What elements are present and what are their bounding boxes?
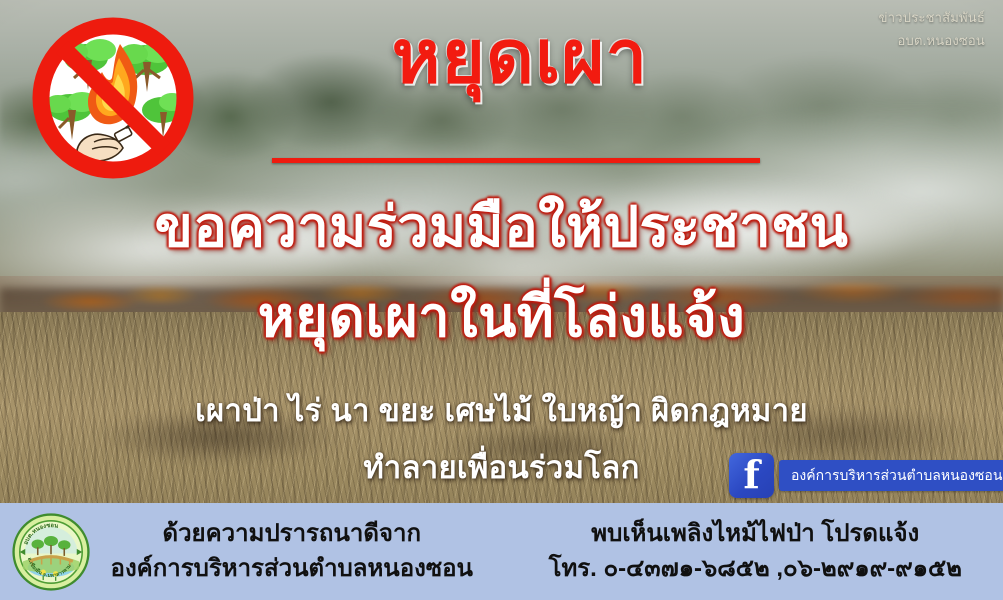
footer-right-phone: โทร. ๐-๔๓๗๑-๖๘๕๒ ,๐๖-๒๙๑๙-๙๑๕๒ — [508, 552, 1003, 587]
headline-divider — [272, 158, 760, 163]
footer-left-section: อบต.หนองซอน อ.เชียงยืน จ.มหาสารคาม ด้วยค… — [0, 513, 508, 591]
no-open-burning-icon — [22, 16, 204, 181]
footer-left-line-2: องค์การบริหารส่วนตำบลหนองซอน — [90, 552, 494, 587]
footer-left-line-1: ด้วยความปรารถนาดีจาก — [90, 517, 494, 552]
sub-message-line-1: เผาป่า ไร่ นา ขยะ เศษไม้ ใบหญ้า ผิดกฎหมา… — [0, 385, 1003, 435]
footer-left-text: ด้วยความปรารถนาดีจาก องค์การบริหารส่วนตำ… — [90, 517, 508, 587]
headline-text: หยุดเผา — [270, 18, 770, 96]
organization-seal-icon: อบต.หนองซอน อ.เชียงยืน จ.มหาสารคาม — [12, 513, 90, 591]
facebook-badge[interactable]: องค์การบริหารส่วนตำบลหนองซอน — [729, 453, 1003, 498]
footer-right-section: พบเห็นเพลิงไหม้ไฟป่า โปรดแจ้ง โทร. ๐-๔๓๗… — [508, 517, 1003, 587]
header-caption-line2: อบต.หนองซอน — [879, 31, 985, 51]
message-line-2: หยุดเผาในที่โล่งแจ้ง — [0, 272, 1003, 361]
footer-bar: อบต.หนองซอน อ.เชียงยืน จ.มหาสารคาม ด้วยค… — [0, 503, 1003, 600]
footer-right-line-1: พบเห็นเพลิงไหม้ไฟป่า โปรดแจ้ง — [508, 517, 1003, 552]
header-caption: ข่าวประชาสัมพันธ์ อบต.หนองซอน — [879, 8, 985, 50]
header-caption-line1: ข่าวประชาสัมพันธ์ — [879, 8, 985, 28]
poster-headline: หยุดเผา — [270, 18, 770, 96]
public-awareness-poster: ข่าวประชาสัมพันธ์ อบต.หนองซอน — [0, 0, 1003, 600]
message-line-1: ขอความร่วมมือให้ประชาชน — [0, 182, 1003, 271]
facebook-icon[interactable] — [729, 453, 774, 498]
facebook-page-name[interactable]: องค์การบริหารส่วนตำบลหนองซอน — [779, 460, 1003, 491]
